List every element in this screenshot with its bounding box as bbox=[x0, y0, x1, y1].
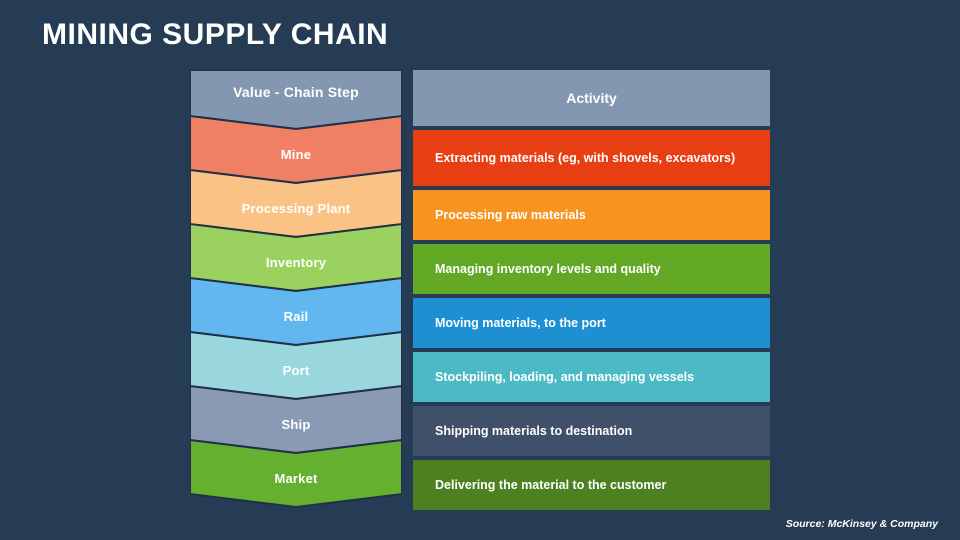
activity-cell-market[interactable]: Delivering the material to the customer bbox=[413, 460, 770, 510]
activity-column-header-label: Activity bbox=[566, 90, 617, 106]
activity-text: Moving materials, to the port bbox=[435, 314, 606, 332]
activity-cell-rail[interactable]: Moving materials, to the port bbox=[413, 298, 770, 348]
activity-text: Shipping materials to destination bbox=[435, 422, 632, 440]
activity-text: Extracting materials (eg, with shovels, … bbox=[435, 149, 735, 167]
activity-cell-inventory[interactable]: Managing inventory levels and quality bbox=[413, 244, 770, 294]
activity-cell-mine[interactable]: Extracting materials (eg, with shovels, … bbox=[413, 130, 770, 186]
source-note: Source: McKinsey & Company bbox=[786, 518, 938, 530]
activity-text: Managing inventory levels and quality bbox=[435, 260, 661, 278]
activity-column-header: Activity bbox=[413, 70, 770, 126]
activity-column: ActivityExtracting materials (eg, with s… bbox=[413, 70, 770, 515]
chain-step-market[interactable]: Market bbox=[190, 440, 402, 509]
activity-cell-port[interactable]: Stockpiling, loading, and managing vesse… bbox=[413, 352, 770, 402]
slide-canvas: MINING SUPPLY CHAIN Value - Chain StepMi… bbox=[0, 0, 960, 540]
activity-text: Processing raw materials bbox=[435, 206, 586, 224]
value-chain-step-column: Value - Chain StepMineProcessing PlantIn… bbox=[190, 70, 402, 515]
page-title: MINING SUPPLY CHAIN bbox=[42, 18, 388, 52]
activity-text: Stockpiling, loading, and managing vesse… bbox=[435, 368, 694, 386]
activity-cell-ship[interactable]: Shipping materials to destination bbox=[413, 406, 770, 456]
supply-chain-diagram: Value - Chain StepMineProcessing PlantIn… bbox=[190, 70, 770, 515]
activity-cell-processing-plant[interactable]: Processing raw materials bbox=[413, 190, 770, 240]
activity-text: Delivering the material to the customer bbox=[435, 476, 666, 494]
